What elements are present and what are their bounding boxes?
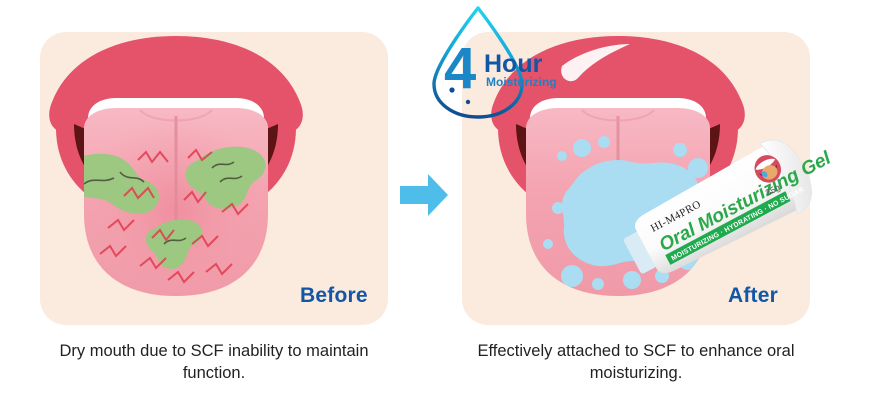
stage-label-after: After bbox=[728, 284, 778, 308]
caption-after: Effectively attached to SCF to enhance o… bbox=[462, 340, 810, 384]
four-hour-moisturizing-badge: 4 Hour Moisturizing bbox=[420, 2, 560, 120]
before-illustration bbox=[40, 32, 388, 325]
caption-before: Dry mouth due to SCF inability to mainta… bbox=[40, 340, 388, 384]
badge-moisturizing-text: Moisturizing bbox=[486, 76, 557, 88]
right-arrow-icon bbox=[398, 172, 450, 218]
stage-label-before: Before bbox=[300, 284, 368, 308]
badge-hour-text: Hour bbox=[484, 52, 542, 77]
comparison-infographic: Before bbox=[0, 0, 870, 400]
panel-before bbox=[40, 32, 388, 325]
product-tube: MOISTURIZING · HYDRATING · NO SUGAR HI-M… bbox=[618, 138, 830, 278]
badge-number: 4 bbox=[444, 40, 475, 98]
